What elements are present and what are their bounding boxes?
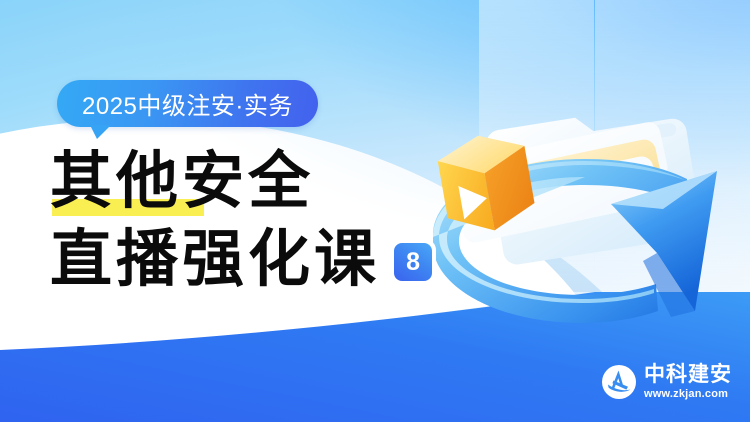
arrow-head-bevel [611,171,717,209]
headline-line-2-text: 直播强化课 [50,224,380,294]
category-badge-pill: 2025中级注安·实务 [57,80,318,127]
episode-badge: 8 [394,243,432,281]
background-stripe-3 [745,0,750,310]
headline-line-1: 其他安全 [50,146,480,216]
category-badge-label: 2025中级注安·实务 [82,86,293,121]
paper-white-bottom [455,154,661,244]
brand-url: www.zkjan.com [644,389,732,400]
cube-side-face [481,146,538,230]
headline-block: 其他安全 直播强化课 8 [50,146,480,294]
background-stripe-block-2 [601,0,745,310]
category-badge-tail [90,125,111,139]
brand-logo-texts: 中科建安 www.zkjan.com [644,364,732,400]
folder-tab-slot [624,122,677,143]
folder-back [484,101,703,267]
background-stripe-2 [595,0,601,310]
brand-logo: 中科建安 www.zkjan.com [601,364,732,400]
brand-name: 中科建安 [644,364,732,385]
headline-line-2: 直播强化课 8 [50,224,480,294]
background-bottom-waves [0,292,750,422]
arrow-head [611,171,717,311]
arrow-head-shadow [643,253,695,317]
paper-yellow [458,137,665,231]
background-stripe-block-1 [484,0,594,310]
zkjan-circle-logo-icon [601,364,637,400]
course-promo-banner: 2025中级注安·实务 其他安全 直播强化课 8 中科建安 www.zkjan.… [0,0,750,422]
category-badge: 2025中级注安·实务 [57,80,318,127]
paper-white-top [462,120,670,218]
episode-badge-ring: 8 [390,239,436,285]
headline-line-1-text: 其他安全 [50,144,314,217]
